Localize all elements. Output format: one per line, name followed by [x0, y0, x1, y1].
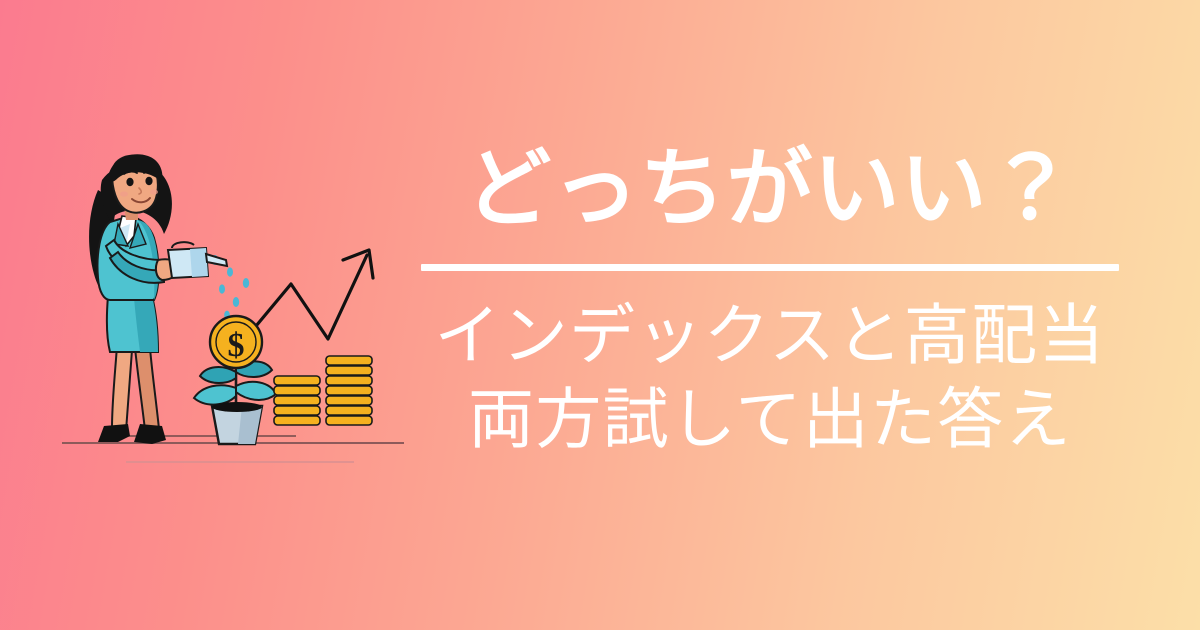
eyecatch-canvas: $ — [0, 0, 1200, 630]
title-divider — [421, 264, 1119, 271]
subtitle-line-2: 両方試して出た答え — [420, 377, 1120, 461]
text-block: どっちがいい？ インデックスと高配当 両方試して出た答え — [420, 140, 1120, 490]
coin-stack-left — [274, 376, 320, 425]
growth-arrow-icon — [256, 250, 373, 339]
page-title: どっちがいい？ — [420, 140, 1120, 240]
money-plant-icon: $ — [194, 316, 276, 444]
businesswoman-figure — [89, 154, 178, 446]
coin-stack-right — [326, 356, 372, 425]
svg-text:$: $ — [228, 327, 245, 364]
subtitle: インデックスと高配当 両方試して出た答え — [420, 293, 1120, 462]
illustration-money-plant: $ — [60, 150, 410, 480]
subtitle-line-1: インデックスと高配当 — [420, 293, 1120, 377]
watering-can-icon — [168, 242, 227, 278]
